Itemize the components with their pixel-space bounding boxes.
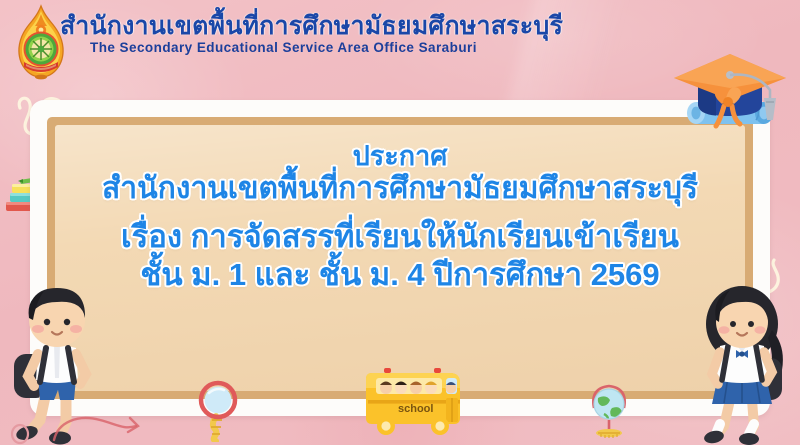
announcement-poster: สำนักงานเขตพื้นที่การศึกษามัธยมศึกษาสระบ…: [0, 0, 800, 445]
frame-tan-border: ประกาศ สำนักงานเขตพื้นที่การศึกษามัธยมศึ…: [47, 117, 753, 399]
announcement-line-2: สำนักงานเขตพื้นที่การศึกษามัธยมศึกษาสระบ…: [55, 172, 745, 206]
bus-label: school: [398, 403, 433, 415]
frame-inner-panel: ประกาศ สำนักงานเขตพื้นที่การศึกษามัธยมศึ…: [55, 125, 745, 391]
magnifying-glass-icon: [192, 378, 244, 442]
org-name-english: The Secondary Educational Service Area O…: [90, 40, 477, 55]
girl-student-illustration: [690, 280, 800, 445]
school-bus-icon: school: [358, 364, 470, 440]
announcement-line-3: เรื่อง การจัดสรรที่เรียนให้นักเรียนเข้าเ…: [55, 220, 745, 255]
globe-icon: [584, 378, 634, 442]
red-curve-doodle-icon: [48, 404, 168, 444]
announcement-line-4: ชั้น ม. 1 และ ชั้น ม. 4 ปีการศึกษา 2569: [55, 258, 745, 293]
graduation-cap-icon: [672, 42, 792, 144]
announcement-line-1: ประกาศ: [55, 141, 745, 171]
squiggle-doodle-icon: [6, 416, 46, 445]
announcement-text-block: ประกาศ สำนักงานเขตพื้นที่การศึกษามัธยมศึ…: [55, 141, 745, 292]
